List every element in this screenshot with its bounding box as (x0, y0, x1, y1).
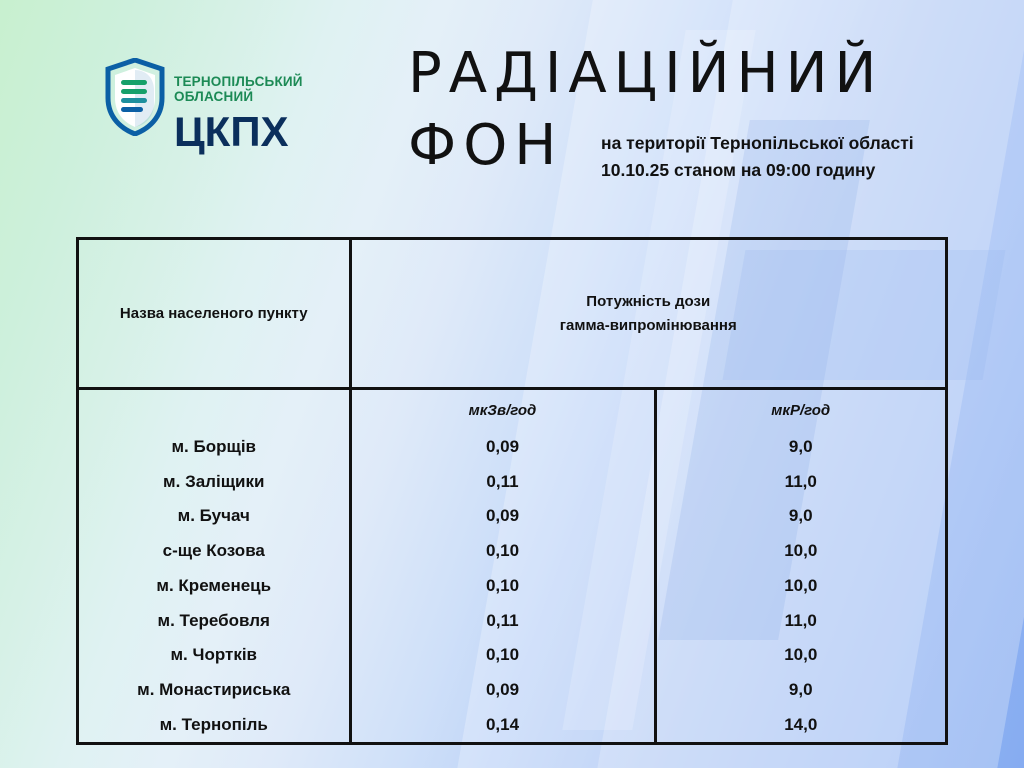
table-row: м. Заліщики 0,11 11,0 (79, 464, 945, 499)
table-row: с-ще Козова 0,10 10,0 (79, 534, 945, 569)
dose-ur: 11,0 (655, 603, 945, 638)
settlement-name: м. Кременець (79, 569, 350, 604)
shield-icon (104, 58, 166, 136)
dose-ur: 11,0 (655, 464, 945, 499)
unit-label-usv: мкЗв/год (350, 389, 655, 430)
column-header-dose-rate-line-1: Потужність дози (352, 290, 946, 314)
table-row: м. Борщів 0,09 9,0 (79, 430, 945, 465)
dose-usv: 0,14 (350, 707, 655, 742)
poster-page: ТЕРНОПІЛЬСЬКИЙ ОБЛАСНИЙ ЦКПХ РАДІАЦІЙНИЙ… (0, 0, 1024, 768)
logo-wordmark: ТЕРНОПІЛЬСЬКИЙ ОБЛАСНИЙ ЦКПХ (174, 74, 303, 154)
dose-ur: 9,0 (655, 430, 945, 465)
settlement-name: м. Заліщики (79, 464, 350, 499)
dose-usv: 0,09 (350, 499, 655, 534)
settlement-name: м. Бучач (79, 499, 350, 534)
table-row: м. Тернопіль 0,14 14,0 (79, 707, 945, 742)
dose-usv: 0,09 (350, 430, 655, 465)
page-title-line-1: РАДІАЦІЙНИЙ (408, 41, 883, 106)
logo-abbreviation: ЦКПХ (174, 110, 303, 154)
dose-usv: 0,10 (350, 569, 655, 604)
dose-usv: 0,09 (350, 673, 655, 708)
dose-ur: 14,0 (655, 707, 945, 742)
dose-usv: 0,11 (350, 464, 655, 499)
dose-usv: 0,11 (350, 603, 655, 638)
poster-header: ТЕРНОПІЛЬСЬКИЙ ОБЛАСНИЙ ЦКПХ РАДІАЦІЙНИЙ… (0, 0, 1024, 232)
organization-logo: ТЕРНОПІЛЬСЬКИЙ ОБЛАСНИЙ ЦКПХ (104, 58, 303, 154)
settlement-name: м. Теребовля (79, 603, 350, 638)
settlement-name: с-ще Козова (79, 534, 350, 569)
dose-ur: 10,0 (655, 569, 945, 604)
dose-usv: 0,10 (350, 534, 655, 569)
logo-line-1: ТЕРНОПІЛЬСЬКИЙ (174, 74, 303, 89)
logo-line-2: ОБЛАСНИЙ (174, 89, 303, 104)
radiation-table: Назва населеного пункту Потужність дози … (76, 237, 948, 745)
dose-ur: 10,0 (655, 534, 945, 569)
dose-usv: 0,10 (350, 638, 655, 673)
dose-ur: 9,0 (655, 673, 945, 708)
table-row: м. Кременець 0,10 10,0 (79, 569, 945, 604)
column-header-dose-rate-line-2: гамма-випромінювання (352, 314, 946, 338)
column-header-settlement: Назва населеного пункту (79, 240, 350, 389)
unit-label-ur: мкР/год (655, 389, 945, 430)
settlement-name: м. Монастириська (79, 673, 350, 708)
units-empty-cell (79, 389, 350, 430)
table-header-row: Назва населеного пункту Потужність дози … (79, 240, 945, 389)
table-row: м. Теребовля 0,11 11,0 (79, 603, 945, 638)
table-row: м. Бучач 0,09 9,0 (79, 499, 945, 534)
settlement-name: м. Чортків (79, 638, 350, 673)
dose-ur: 10,0 (655, 638, 945, 673)
table-units-row: мкЗв/год мкР/год (79, 389, 945, 430)
table-row: м. Монастириська 0,09 9,0 (79, 673, 945, 708)
settlement-name: м. Борщів (79, 430, 350, 465)
column-header-dose-rate: Потужність дози гамма-випромінювання (350, 240, 945, 389)
settlement-name: м. Тернопіль (79, 707, 350, 742)
dose-ur: 9,0 (655, 499, 945, 534)
table-row: м. Чортків 0,10 10,0 (79, 638, 945, 673)
page-subtitle: на території Тернопільської області 10.1… (601, 130, 941, 184)
